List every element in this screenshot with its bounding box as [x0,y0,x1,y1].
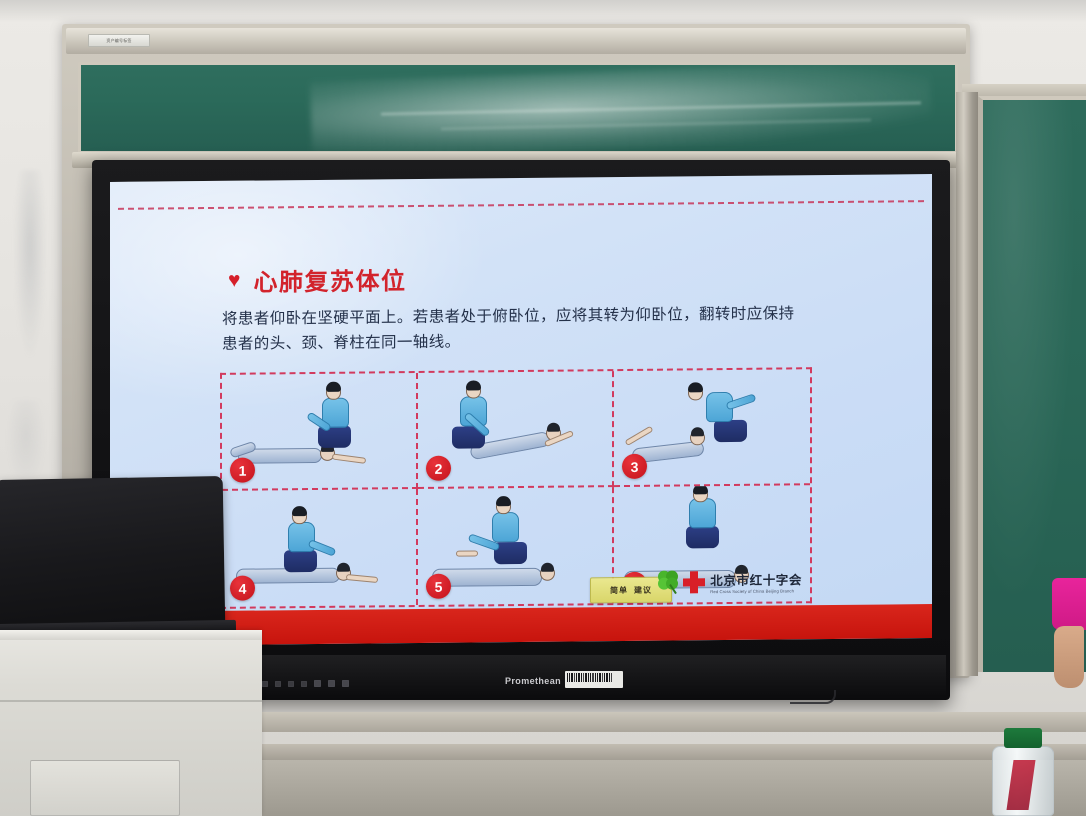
menu-button[interactable] [301,681,307,687]
person-in-pink-shirt [1052,578,1086,698]
asset-tag-label: 资产编号标签 [88,34,150,47]
slide-top-dashed-rule [118,200,924,210]
chalkboard-top-rail [66,28,966,54]
logo-text-cn: 北京市红十字会 [710,569,802,589]
volume-down-button[interactable] [275,681,281,687]
step-badge: 3 [622,454,647,479]
ceiling-shadow [0,0,1086,22]
slide-title-row: ♥ 心肺复苏体位 [228,261,406,298]
page-title: 心肺复苏体位 [253,261,406,297]
chalkboard-upper-strip [78,62,958,154]
floor-area [150,760,1086,816]
step-cell: 5 [418,487,614,605]
step-badge: 2 [426,456,451,481]
person-hand [1054,626,1084,688]
step-cell: 3 [614,369,810,487]
home-button[interactable] [328,680,335,687]
step-cell: 2 [418,371,614,489]
water-bottle[interactable] [988,726,1058,816]
slide-body-text: 将患者仰卧在坚硬平面上。若患者处于俯卧位，应将其转为仰卧位，翻转时应保持 患者的… [222,301,862,357]
display-cable [790,690,836,704]
display-brand-label: Promethean [505,676,561,686]
podium-drawer[interactable] [30,760,180,816]
bottle-cap[interactable] [1004,728,1042,748]
display-screen[interactable]: ♥ 心肺复苏体位 将患者仰卧在坚硬平面上。若患者处于俯卧位，应将其转为仰卧位，翻… [110,174,932,646]
pink-shirt-sleeve [1052,578,1086,630]
red-cross-icon [683,571,705,593]
podium-seam [0,700,262,702]
step-badge: 5 [426,574,451,599]
sticky-note: 简单 建议 [590,577,672,604]
power-button[interactable] [262,681,268,687]
source-button[interactable] [314,680,321,687]
cpr-steps-grid: 1 2 [220,367,812,609]
classroom-scene: 资产编号标签 ♥ 心肺复苏体位 将患者仰卧在坚硬平面上。若患者处于俯卧位，应将其… [0,0,1086,816]
display-stand-rail-lower [160,744,1086,760]
display-control-buttons[interactable] [262,680,349,687]
slide-body-line-2: 患者的头、颈、脊柱在同一轴线。 [222,326,862,357]
red-cross-logo: 北京市红十字会 Red Cross Society of China Beiji… [683,569,802,594]
laptop-screen[interactable] [0,476,225,632]
logo-text-en: Red Cross Society of China Beijing Branc… [710,588,802,594]
step-badge: 1 [230,458,255,483]
settings-button[interactable] [342,680,349,687]
volume-up-button[interactable] [288,681,294,687]
step-cell: 1 [222,373,418,491]
display-stand-rail-upper [140,712,1086,732]
chalkboard-vertical-rail [956,92,978,676]
step-cell: 4 [222,489,418,607]
step-badge: 4 [230,576,255,601]
wall-smudge-secondary [6,400,46,490]
sticky-note-text-left: 简单 [610,584,628,595]
heart-icon: ♥ [228,270,240,291]
podium-top-surface [0,630,262,640]
wall-smudge [14,170,46,360]
sticky-note-text-right: 建议 [634,584,652,595]
four-leaf-clover-icon [655,568,681,594]
barcode-sticker [565,671,623,688]
